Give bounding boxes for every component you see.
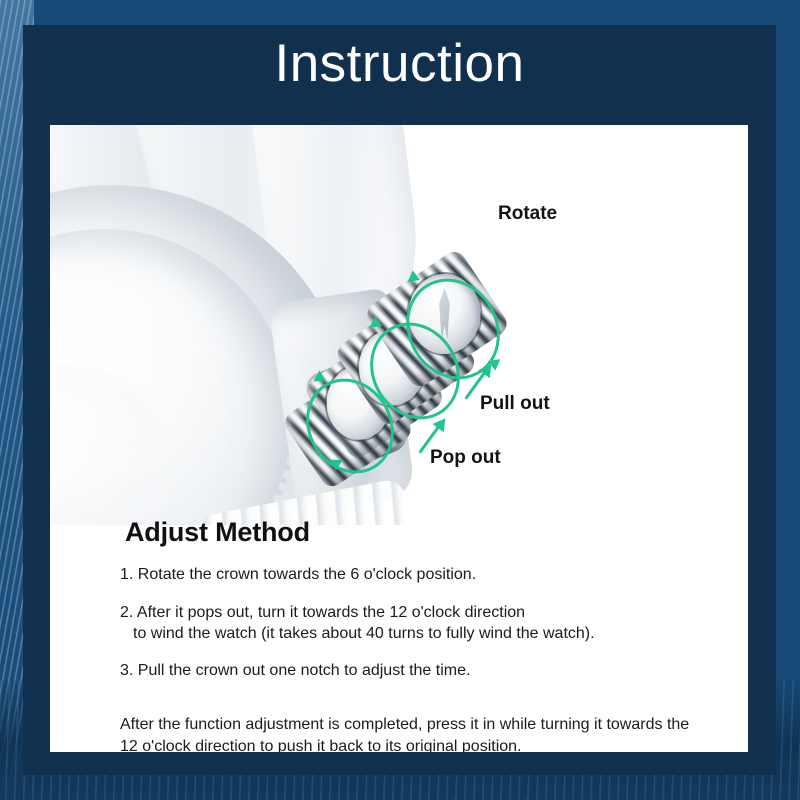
step-number: 2. [120, 604, 133, 621]
step-text: Pull the crown out one notch to adjust t… [138, 662, 471, 679]
instructions-heading: Adjust Method [125, 517, 702, 548]
step-text: After it pops out, turn it towards the 1… [137, 604, 525, 621]
watch-crown-illustration: 15 [50, 125, 748, 525]
step-text: Rotate the crown towards the 6 o'clock p… [138, 566, 476, 583]
callout-rotate: Rotate [498, 203, 557, 225]
instruction-step: 3. Pull the crown out one notch to adjus… [120, 661, 702, 682]
instruction-step: 2. After it pops out, turn it towards th… [120, 603, 702, 645]
step-number: 3. [120, 662, 133, 679]
closing-note: After the function adjustment is complet… [120, 714, 702, 752]
callout-pull-out: Pull out [480, 393, 550, 415]
page-title: Instruction [23, 37, 776, 90]
callout-pop-out: Pop out [430, 447, 501, 469]
instructions-section: Adjust Method 1. Rotate the crown toward… [50, 505, 748, 752]
step-number: 1. [120, 566, 133, 583]
step-text-continued: to wind the watch (it takes about 40 tur… [120, 624, 702, 645]
content-card: 15 [50, 125, 748, 752]
instruction-step: 1. Rotate the crown towards the 6 o'cloc… [120, 565, 702, 586]
closing-line-1: After the function adjustment is complet… [120, 716, 662, 733]
instruction-panel: Instruction 15 [23, 25, 776, 775]
